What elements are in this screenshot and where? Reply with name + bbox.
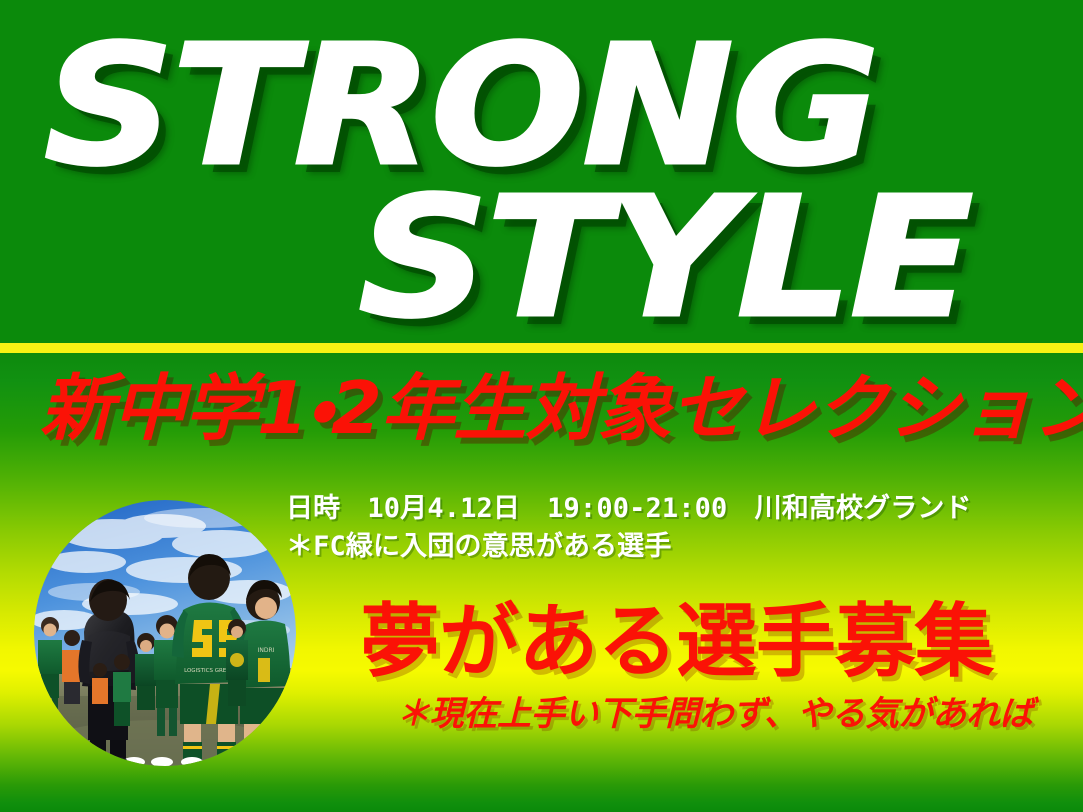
team-photo-frame: LOGISTICS GREEN — [34, 500, 296, 766]
svg-text:INDRI: INDRI — [258, 647, 275, 654]
selection-headline: 新中学1・2年生対象セレクション — [40, 372, 1070, 444]
yellow-divider-rule — [0, 343, 1083, 353]
team-photo: LOGISTICS GREEN — [34, 500, 296, 766]
team-photo-illustration: LOGISTICS GREEN — [34, 500, 296, 766]
recruitment-note: ＊現在上手い下手問わず、やる気があれば — [396, 697, 1083, 731]
poster-root: STRONG STYLE 新中学1・2年生対象セレクション — [0, 0, 1083, 812]
event-info-block: 日時 10月4.12日 19:00-21:00 川和高校グランド ＊FC緑に入団… — [286, 490, 1076, 566]
event-eligibility-line: ＊FC緑に入団の意思がある選手 — [286, 528, 1076, 566]
event-datetime-venue-line: 日時 10月4.12日 19:00-21:00 川和高校グランド — [286, 490, 1076, 528]
recruitment-call-to-action: 夢がある選手募集 — [360, 602, 1060, 682]
title-line-style: STYLE — [358, 176, 971, 342]
poster-title-block: STRONG STYLE — [0, 0, 1083, 343]
